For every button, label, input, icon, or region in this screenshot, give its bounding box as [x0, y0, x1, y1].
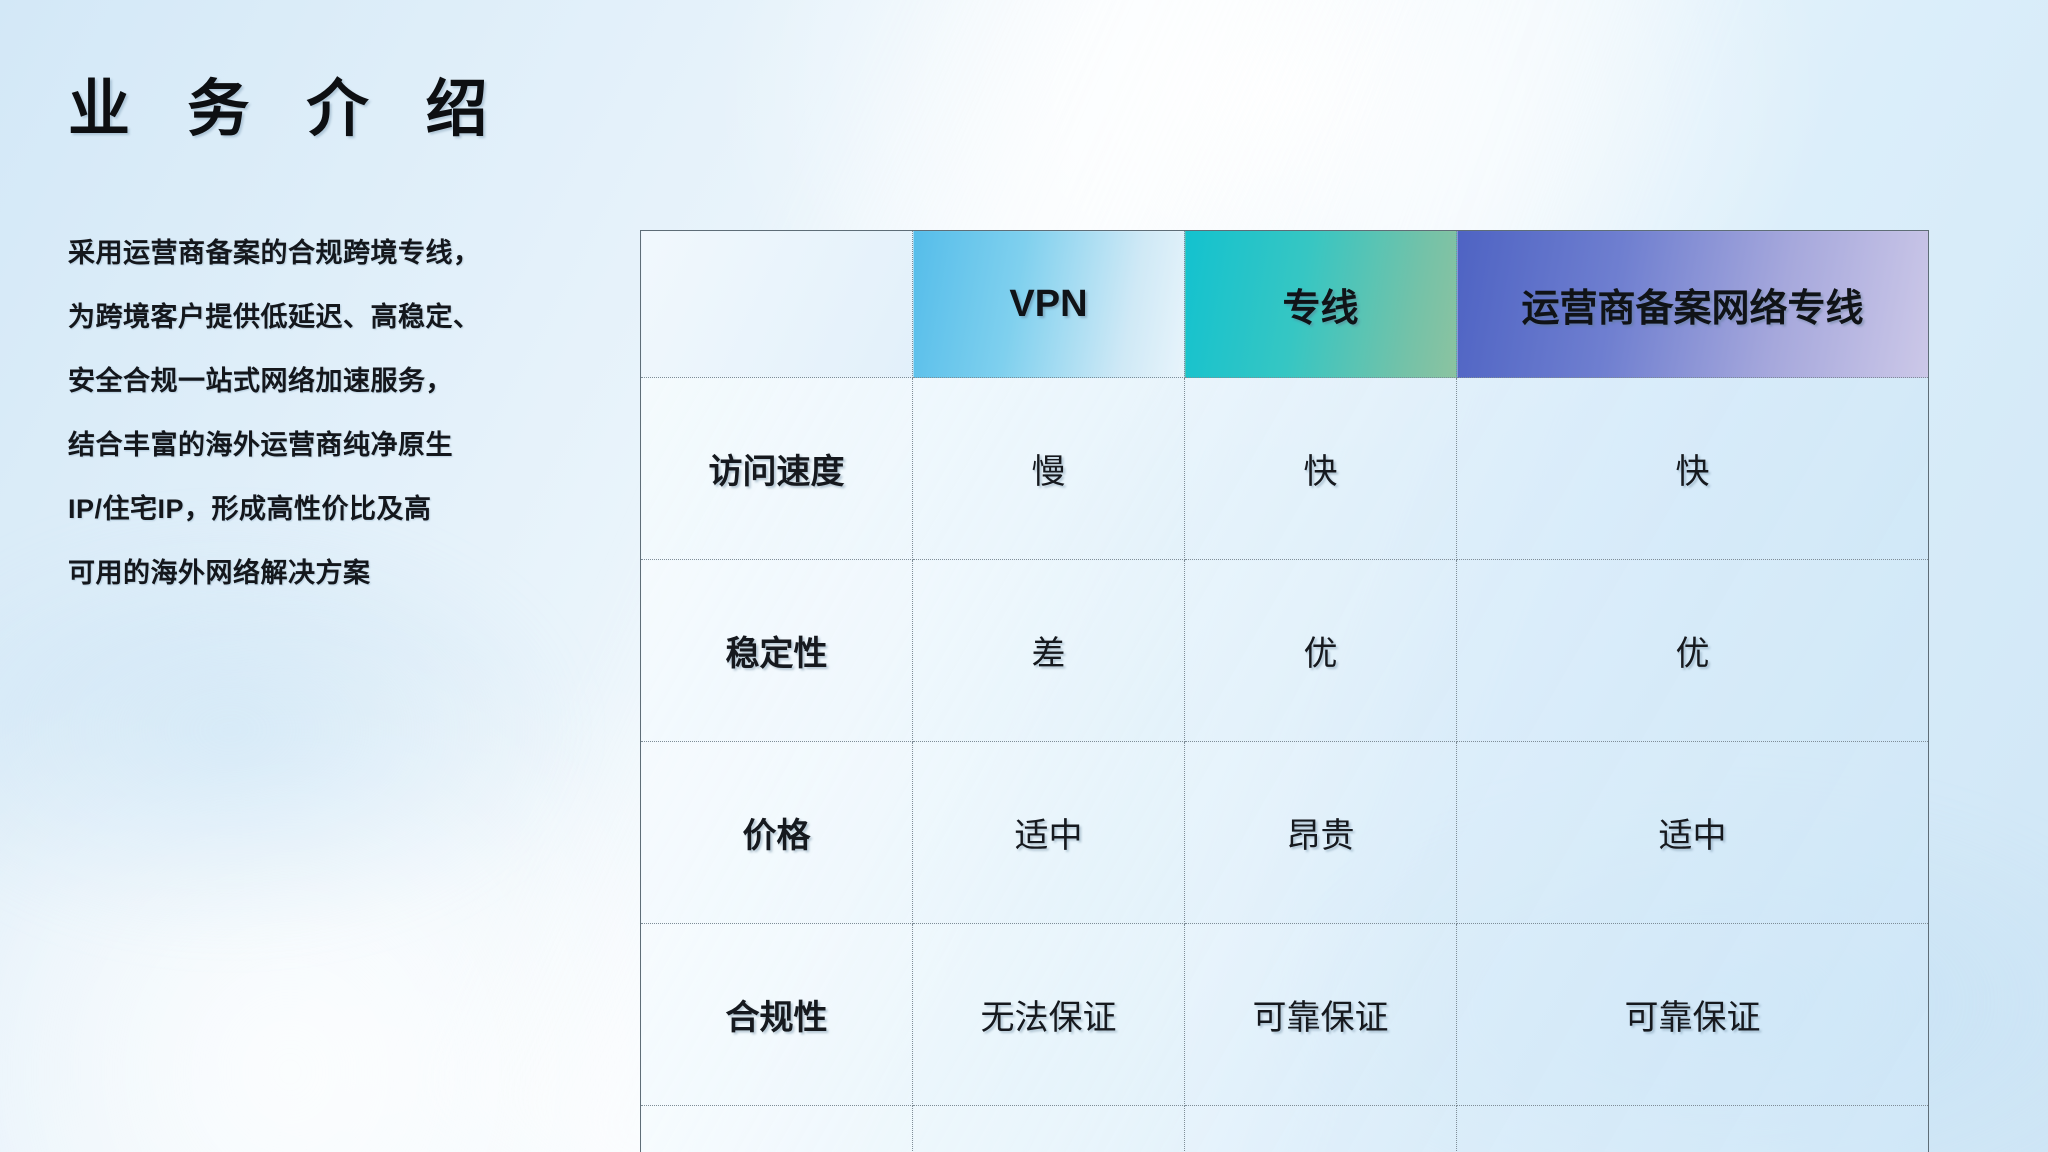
cell-vpn: 差 — [913, 560, 1185, 742]
table-row: 稳定性 差 优 优 — [641, 560, 1929, 742]
intro-line: IP/住宅IP，形成高性价比及高 — [68, 496, 628, 523]
cell-carrier-line: 优 — [1457, 560, 1929, 742]
intro-paragraph: 采用运营商备案的合规跨境专线， 为跨境客户提供低延迟、高稳定、 安全合规一站式网… — [68, 240, 628, 624]
intro-line: 结合丰富的海外运营商纯净原生 — [68, 432, 628, 459]
header-cell-carrier-registered-line: 运营商备案网络专线 — [1457, 231, 1929, 378]
row-label: 稳定性 — [641, 560, 913, 742]
comparison-table: VPN 专线 运营商备案网络专线 访问速度 慢 快 快 稳定性 差 优 优 价格… — [640, 230, 1929, 1152]
header-cell-dedicated-line: 专线 — [1185, 231, 1457, 378]
cell-vpn: 慢 — [913, 378, 1185, 560]
row-label: 价格 — [641, 742, 913, 924]
page-title: 业 务 介 绍 — [68, 58, 508, 148]
intro-line: 可用的海外网络解决方案 — [68, 560, 628, 587]
table-header-row: VPN 专线 运营商备案网络专线 — [641, 231, 1929, 378]
cell-carrier-line: 适中 — [1457, 742, 1929, 924]
cell-vpn: 基本无 — [913, 1106, 1185, 1152]
cell-vpn: 适中 — [913, 742, 1185, 924]
table-row: 服务响应 基本无 慢 7x24 — [641, 1106, 1929, 1152]
cell-vpn: 无法保证 — [913, 924, 1185, 1106]
row-label: 合规性 — [641, 924, 913, 1106]
table-header: VPN 专线 运营商备案网络专线 — [641, 231, 1929, 378]
cell-dedicated-line: 慢 — [1185, 1106, 1457, 1152]
cell-carrier-line: 可靠保证 — [1457, 924, 1929, 1106]
table-row: 价格 适中 昂贵 适中 — [641, 742, 1929, 924]
intro-line: 安全合规一站式网络加速服务， — [68, 368, 628, 395]
cell-carrier-line: 快 — [1457, 378, 1929, 560]
table-row: 访问速度 慢 快 快 — [641, 378, 1929, 560]
cell-dedicated-line: 昂贵 — [1185, 742, 1457, 924]
header-cell-blank — [641, 231, 913, 378]
cell-dedicated-line: 优 — [1185, 560, 1457, 742]
intro-line: 为跨境客户提供低延迟、高稳定、 — [68, 304, 628, 331]
table-body: 访问速度 慢 快 快 稳定性 差 优 优 价格 适中 昂贵 适中 合规性 无法保… — [641, 378, 1929, 1152]
cell-dedicated-line: 快 — [1185, 378, 1457, 560]
header-cell-vpn: VPN — [913, 231, 1185, 378]
slide-canvas: 业 务 介 绍 采用运营商备案的合规跨境专线， 为跨境客户提供低延迟、高稳定、 … — [0, 0, 2048, 1152]
glow-decoration — [0, 572, 740, 1152]
table-row: 合规性 无法保证 可靠保证 可靠保证 — [641, 924, 1929, 1106]
row-label: 服务响应 — [641, 1106, 913, 1152]
row-label: 访问速度 — [641, 378, 913, 560]
cell-carrier-line: 7x24 — [1457, 1106, 1929, 1152]
cell-dedicated-line: 可靠保证 — [1185, 924, 1457, 1106]
intro-line: 采用运营商备案的合规跨境专线， — [68, 240, 628, 267]
